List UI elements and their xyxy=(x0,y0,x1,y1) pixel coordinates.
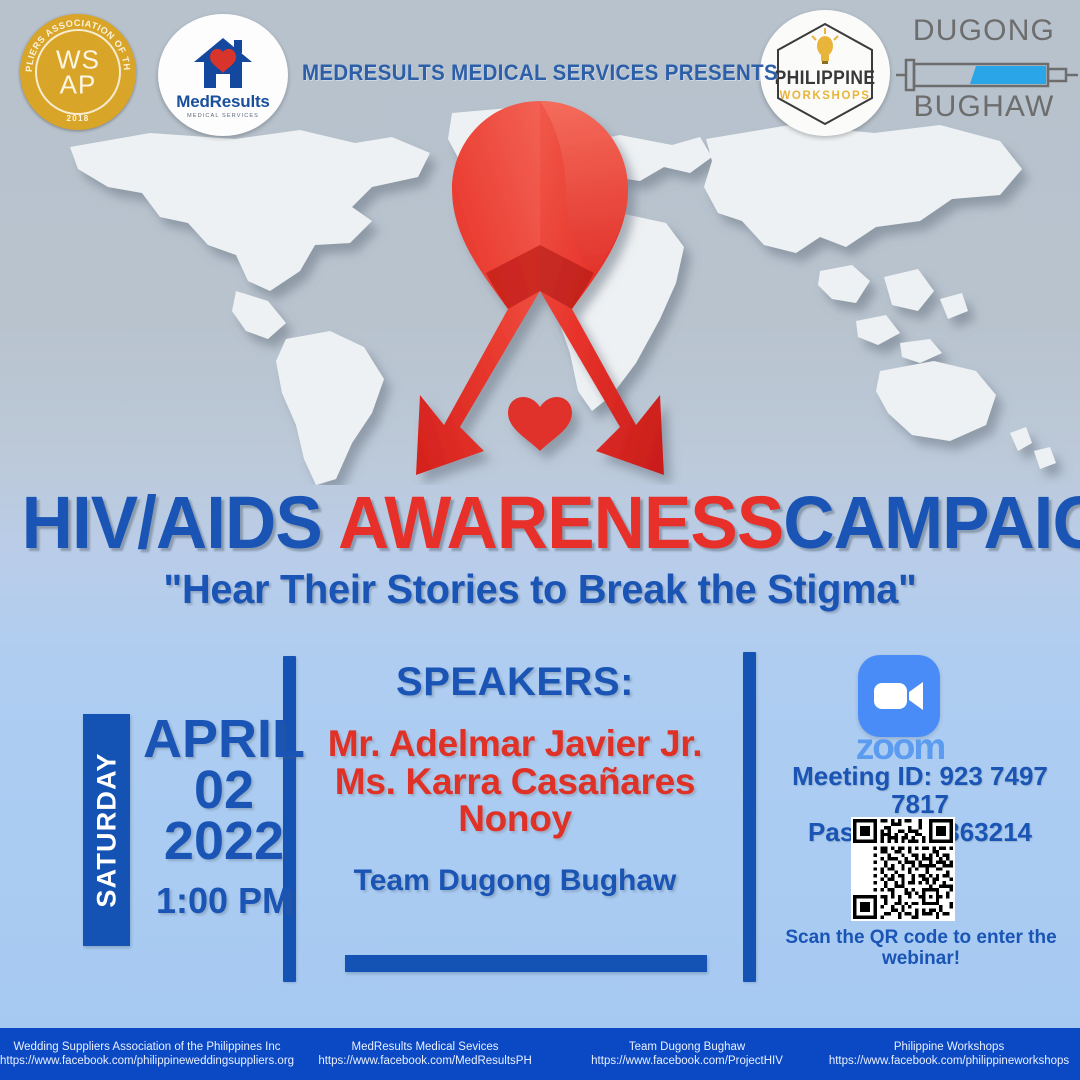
video-camera-icon xyxy=(874,680,924,712)
page-subtitle: "Hear Their Stories to Break the Stigma" xyxy=(16,566,1064,613)
dugong-line1: DUGONG xyxy=(900,14,1068,48)
medresults-subtitle: MEDICAL SERVICES xyxy=(187,113,259,119)
event-date: APRIL 02 2022 1:00 PM xyxy=(134,714,314,918)
title-part-2: AWARENESS xyxy=(338,481,783,564)
speakers-names: Mr. Adelmar Javier Jr. Ms. Karra Casañar… xyxy=(300,725,730,838)
zoom-meeting-id: Meeting ID: 923 7497 7817 xyxy=(770,762,1070,818)
speakers-team: Team Dugong Bughaw xyxy=(300,864,730,898)
medresults-name: MedResults xyxy=(176,92,269,112)
qr-code[interactable] xyxy=(851,817,955,921)
footer-org-name: Wedding Suppliers Association of the Phi… xyxy=(0,1040,294,1054)
speaker-name: Ms. Karra Casañares xyxy=(300,763,730,801)
speakers-heading: SPEAKERS: xyxy=(300,660,730,705)
footer-bar: Wedding Suppliers Association of the Phi… xyxy=(0,1028,1080,1080)
footer-org-url[interactable]: https://www.facebook.com/philippineweddi… xyxy=(0,1054,294,1068)
footer-item: Team Dugong Bughaw https://www.facebook.… xyxy=(556,1040,818,1069)
speaker-name: Nonoy xyxy=(300,800,730,838)
footer-org-url[interactable]: https://www.facebook.com/MedResultsPH xyxy=(294,1054,556,1068)
presents-line: MEDRESULTS MEDICAL SERVICES PRESENTS xyxy=(38,60,1042,86)
event-month: APRIL xyxy=(134,714,314,765)
speaker-name: Mr. Adelmar Javier Jr. xyxy=(300,725,730,763)
event-day-number: 02 xyxy=(134,765,314,816)
footer-org-url[interactable]: https://www.facebook.com/ProjectHIV xyxy=(556,1054,818,1068)
speakers-underline-bar xyxy=(345,955,707,972)
title-part-1: HIV/AIDS xyxy=(22,481,338,564)
day-badge: SATURDAY xyxy=(83,714,130,946)
poster-canvas: WEDDING SUPPLIERS ASSOCIATION OF THE PHI… xyxy=(0,0,1080,1080)
footer-org-name: Team Dugong Bughaw xyxy=(556,1040,818,1054)
qr-code-image xyxy=(853,819,953,919)
event-year: 2022 xyxy=(134,816,314,867)
footer-item: MedResults Medical Sevices https://www.f… xyxy=(294,1040,556,1069)
zoom-app-icon xyxy=(858,655,940,737)
footer-org-name: Philippine Workshops xyxy=(818,1040,1080,1054)
footer-org-url[interactable]: https://www.facebook.com/philippineworks… xyxy=(818,1054,1080,1068)
footer-item: Wedding Suppliers Association of the Phi… xyxy=(0,1040,294,1069)
speakers-section: SPEAKERS: Mr. Adelmar Javier Jr. Ms. Kar… xyxy=(300,660,730,898)
day-label: SATURDAY xyxy=(91,752,122,907)
page-title: HIV/AIDS AWARENESSCAMPAIGN: xyxy=(22,480,1059,565)
footer-item: Philippine Workshops https://www.faceboo… xyxy=(818,1040,1080,1069)
divider-right xyxy=(743,652,756,982)
event-time: 1:00 PM xyxy=(134,884,314,918)
philippine-workshops-line2: WORKSHOPS xyxy=(760,90,890,102)
footer-org-name: MedResults Medical Sevices xyxy=(294,1040,556,1054)
qr-instruction: Scan the QR code to enter the webinar! xyxy=(768,928,1074,970)
wsap-year: 2018 xyxy=(20,114,136,123)
world-map-graphic xyxy=(0,95,1080,485)
dugong-line2: BUGHAW xyxy=(900,90,1068,124)
title-part-3: CAMPAIGN: xyxy=(783,481,1080,564)
